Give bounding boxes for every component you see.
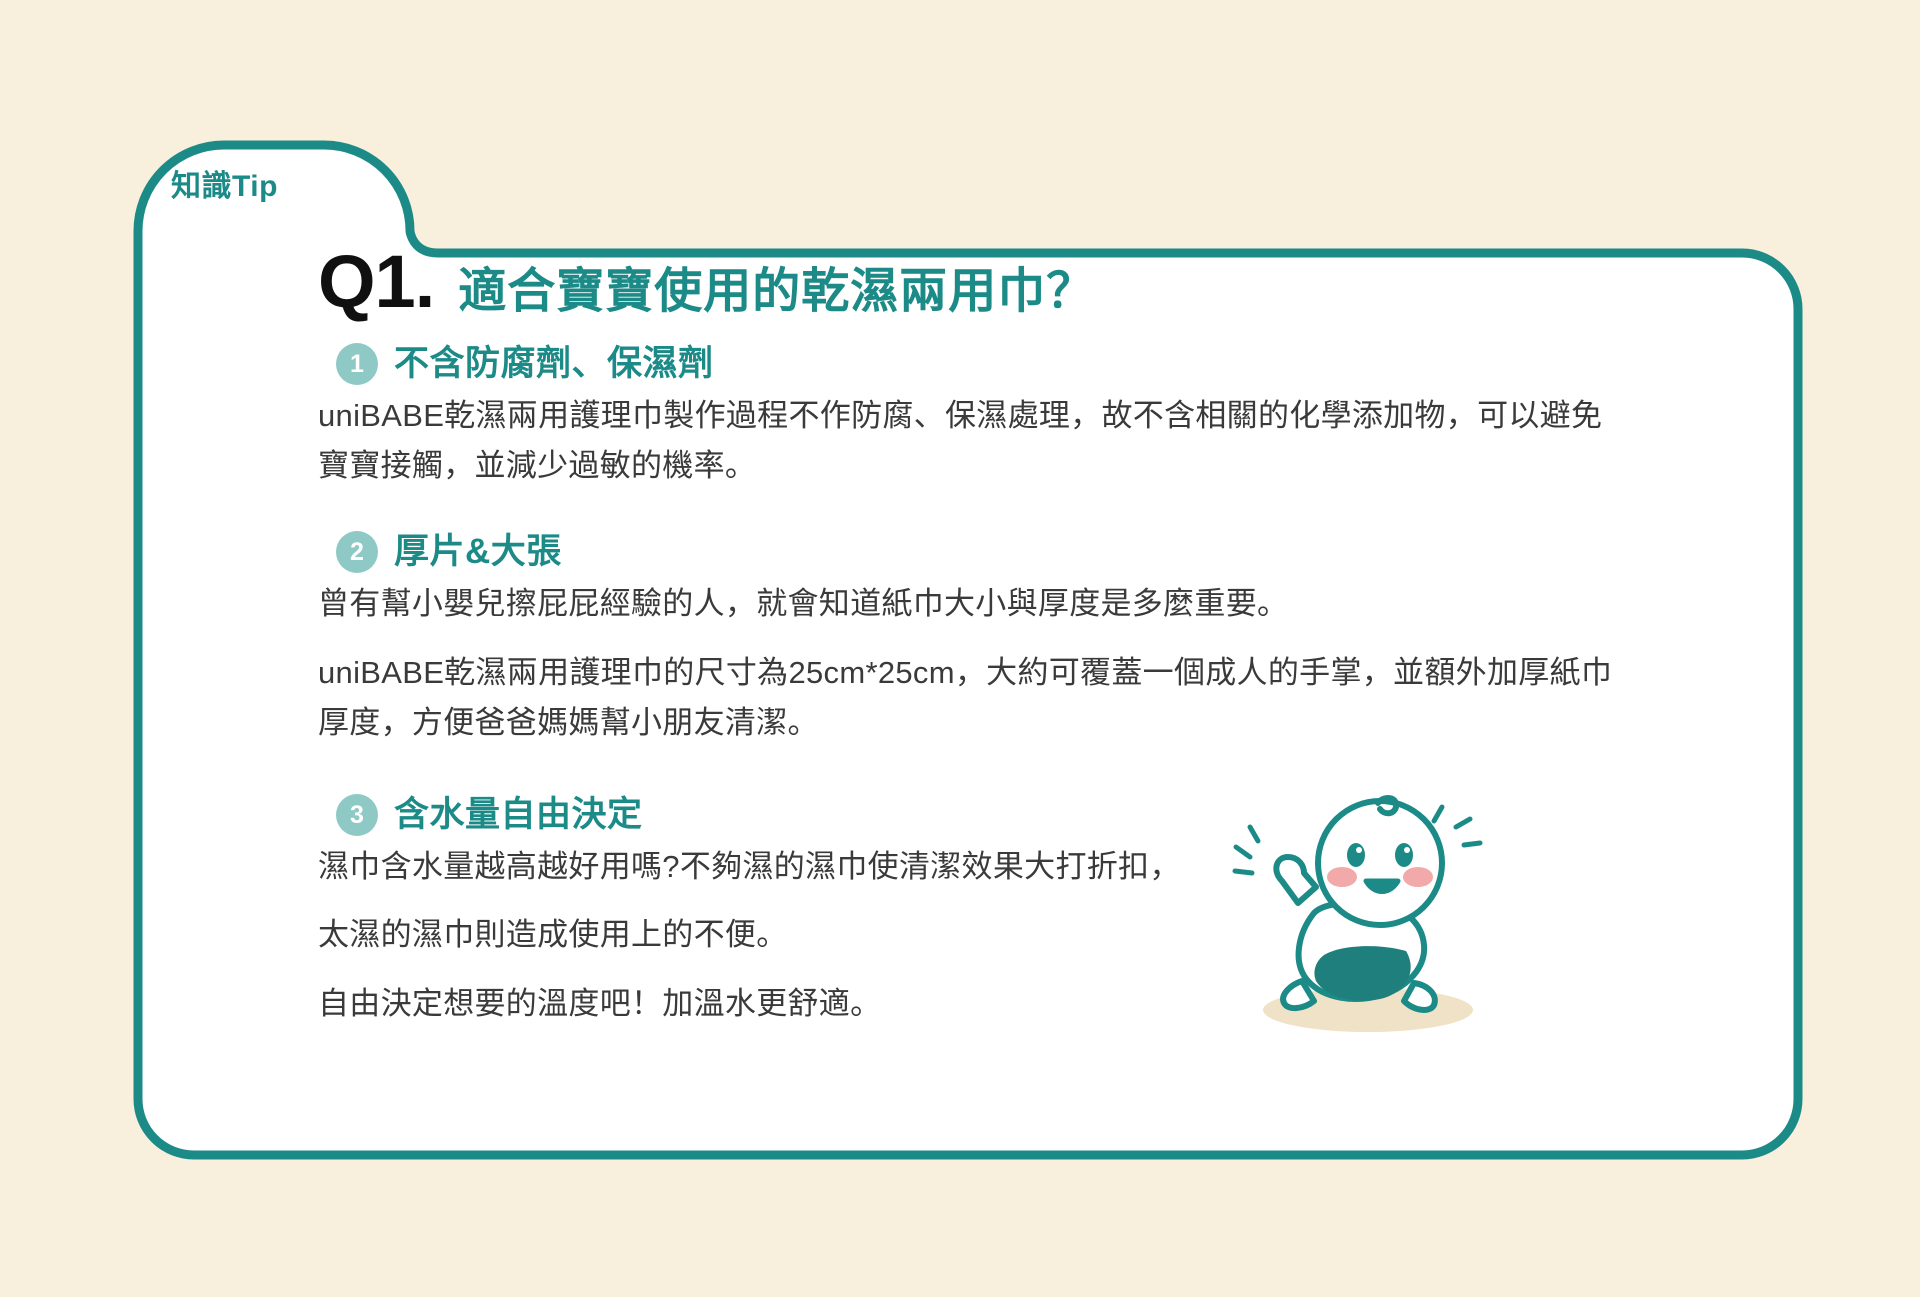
baby-character-icon — [1228, 795, 1498, 1045]
question-heading: Q1. 適合寶寶使用的乾濕兩用巾？ — [318, 245, 1718, 319]
tip-item-3: 3 含水量自由決定 濕巾含水量越高越好用嗎?不夠濕的濕巾使清潔效果大打折扣， 太… — [318, 794, 1718, 1029]
card-content: Q1. 適合寶寶使用的乾濕兩用巾？ 1 不含防腐劑、保濕劑 uniBABE乾濕兩… — [318, 245, 1718, 1033]
tip-item-3-head: 3 含水量自由決定 — [318, 794, 1718, 836]
tip-badge-2: 2 — [336, 531, 378, 573]
tip-item-1-head: 1 不含防腐劑、保濕劑 — [318, 343, 1718, 385]
question-title: 適合寶寶使用的乾濕兩用巾？ — [458, 268, 1095, 316]
tip-badge-1: 1 — [336, 343, 378, 385]
question-number: Q1. — [318, 245, 434, 319]
tip-title-2: 厚片&大張 — [394, 533, 562, 572]
tip-title-3: 含水量自由決定 — [394, 796, 643, 835]
tip-paragraph-2-1: 曾有幫小嬰兒擦屁屁經驗的人，就會知道紙巾大小與厚度是多麼重要。 — [318, 579, 1628, 629]
tip-paragraph-2-2: uniBABE乾濕兩用護理巾的尺寸為25cm*25cm，大約可覆蓋一個成人的手掌… — [318, 648, 1628, 748]
tip-item-1: 1 不含防腐劑、保濕劑 uniBABE乾濕兩用護理巾製作過程不作防腐、保濕處理，… — [318, 343, 1718, 491]
card-tab-label: 知識Tip — [171, 172, 278, 202]
tip-title-1: 不含防腐劑、保濕劑 — [394, 345, 714, 384]
tip-paragraph-1-1: uniBABE乾濕兩用護理巾製作過程不作防腐、保濕處理，故不含相關的化學添加物，… — [318, 391, 1628, 491]
knowledge-tip-card: 知識Tip Q1. 適合寶寶使用的乾濕兩用巾？ 1 不含防腐劑、保濕劑 uniB… — [128, 135, 1808, 1165]
tip-badge-3: 3 — [336, 794, 378, 836]
poster-canvas: 知識Tip Q1. 適合寶寶使用的乾濕兩用巾？ 1 不含防腐劑、保濕劑 uniB… — [0, 0, 1920, 1297]
tip-item-2-head: 2 厚片&大張 — [318, 531, 1718, 573]
tip-item-2: 2 厚片&大張 曾有幫小嬰兒擦屁屁經驗的人，就會知道紙巾大小與厚度是多麼重要。 … — [318, 531, 1718, 748]
